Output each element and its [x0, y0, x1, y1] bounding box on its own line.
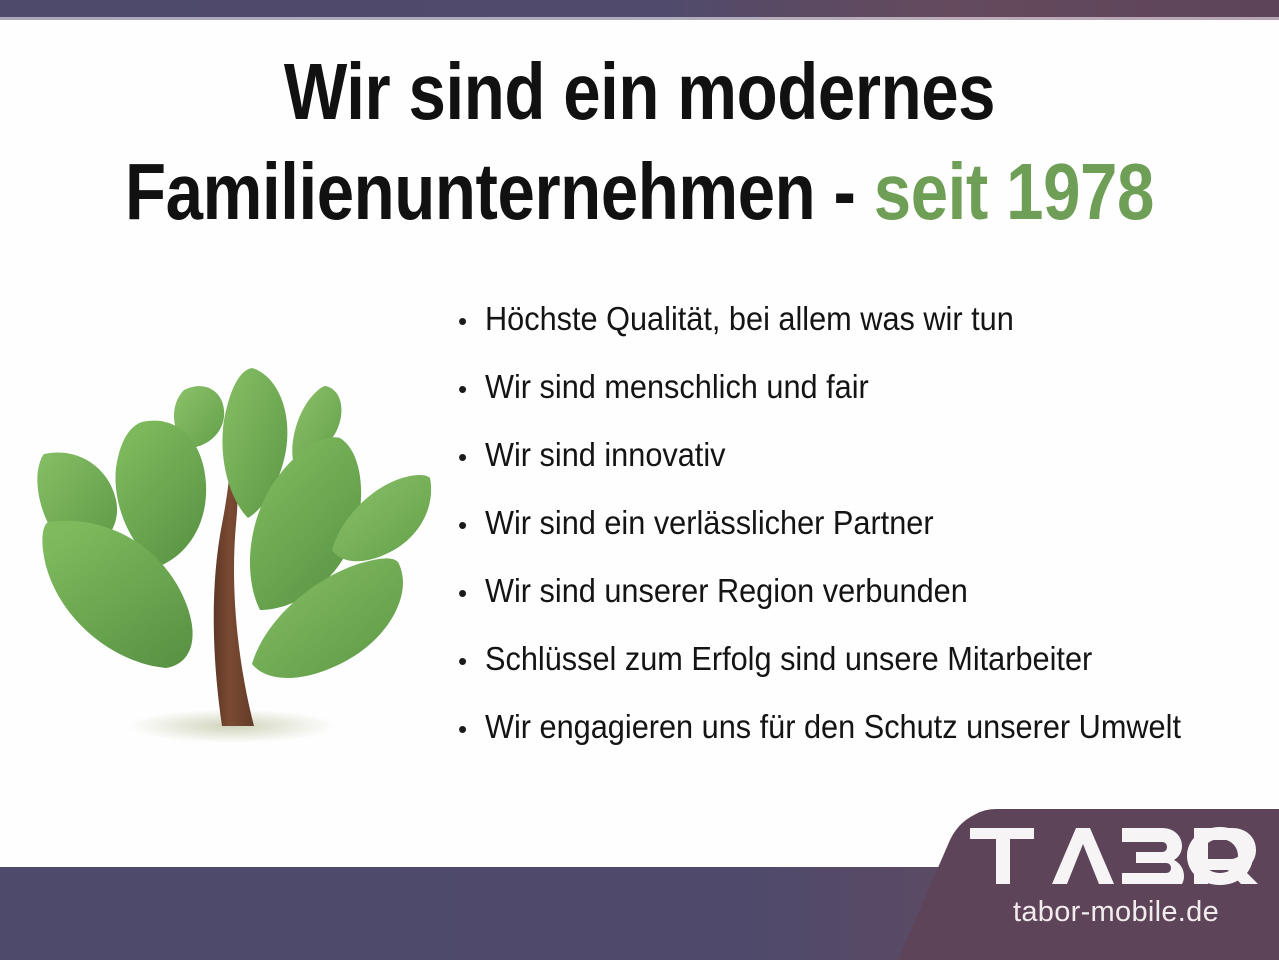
bullet-icon: •	[458, 716, 485, 742]
bullet-icon: •	[458, 308, 485, 334]
headline-line-1: Wir sind ein modernes	[102, 52, 1176, 132]
value-list: • Höchste Qualität, bei allem was wir tu…	[458, 300, 1268, 776]
list-item-label: Wir engagieren uns für den Schutz unsere…	[485, 708, 1181, 746]
list-item: • Wir sind unserer Region verbunden	[458, 572, 1268, 640]
bullet-icon: •	[458, 580, 485, 606]
brand-wordmark	[966, 822, 1266, 888]
list-item: • Wir engagieren uns für den Schutz unse…	[458, 708, 1268, 776]
top-accent-bar	[0, 0, 1279, 17]
top-accent-hairline	[0, 17, 1279, 20]
list-item-label: Wir sind unserer Region verbunden	[485, 572, 968, 610]
page-title: Wir sind ein modernes Familienunternehme…	[102, 52, 1176, 232]
list-item: • Wir sind ein verlässlicher Partner	[458, 504, 1268, 572]
list-item: • Schlüssel zum Erfolg sind unsere Mitar…	[458, 640, 1268, 708]
headline-line-2-main: Familienunternehmen -	[125, 147, 874, 236]
headline-accent-year: seit 1978	[874, 147, 1154, 236]
bullet-icon: •	[458, 376, 485, 402]
list-item: • Wir sind menschlich und fair	[458, 368, 1268, 436]
list-item-label: Wir sind innovativ	[485, 436, 725, 474]
brand-logo[interactable]: tabor-mobile.de	[966, 822, 1266, 927]
bullet-icon: •	[458, 444, 485, 470]
list-item-label: Höchste Qualität, bei allem was wir tun	[485, 300, 1014, 338]
headline-line-2: Familienunternehmen - seit 1978	[102, 152, 1176, 232]
list-item-label: Schlüssel zum Erfolg sind unsere Mitarbe…	[485, 640, 1092, 678]
bullet-icon: •	[458, 648, 485, 674]
bullet-icon: •	[458, 512, 485, 538]
list-item: • Höchste Qualität, bei allem was wir tu…	[458, 300, 1268, 368]
list-item-label: Wir sind ein verlässlicher Partner	[485, 504, 934, 542]
brand-url[interactable]: tabor-mobile.de	[966, 898, 1266, 927]
list-item: • Wir sind innovativ	[458, 436, 1268, 504]
slide-canvas: Wir sind ein modernes Familienunternehme…	[0, 0, 1279, 960]
tree-illustration	[26, 328, 446, 764]
list-item-label: Wir sind menschlich und fair	[485, 368, 869, 406]
